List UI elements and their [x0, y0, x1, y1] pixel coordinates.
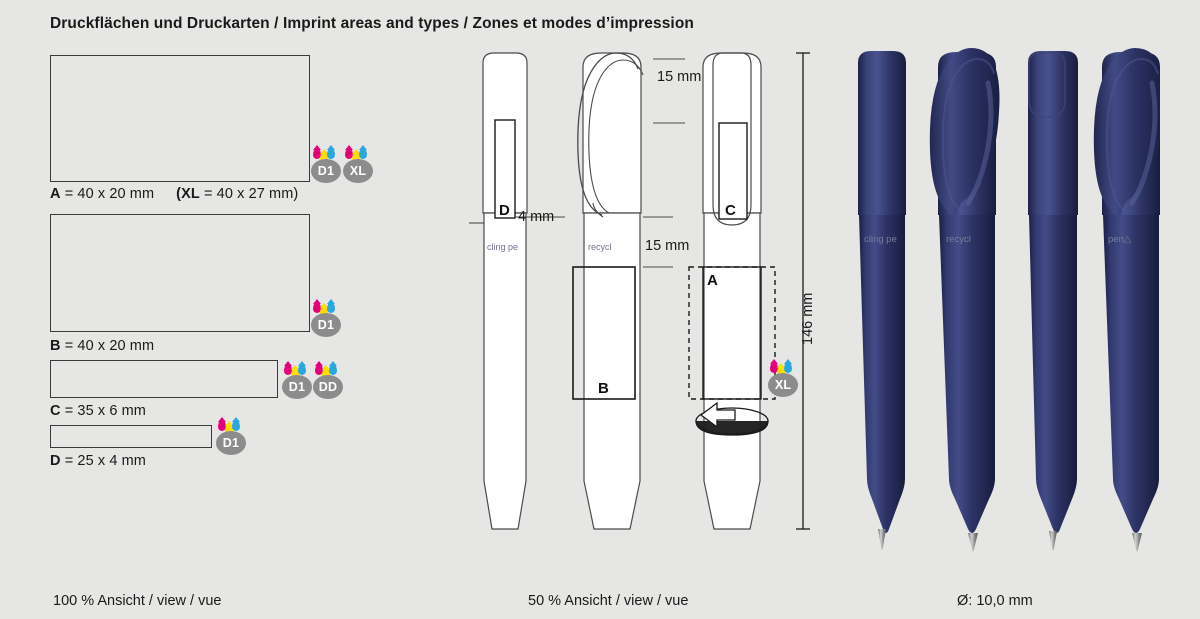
imprint-size-d: = 25 x 4 mm [61, 453, 146, 469]
dimension-total-length [796, 53, 810, 529]
area-marker-b: B [598, 380, 609, 397]
ink-drop-cyan-icon [784, 362, 792, 373]
badge-d1-area-b: D1 [311, 300, 341, 338]
imprint-xl-prefix-a: (XL [176, 186, 200, 202]
ink-drop-cyan-icon [327, 302, 335, 313]
imprint-letter-c: C [50, 403, 61, 419]
imprint-rect-c [50, 360, 278, 398]
pen-view-2 [578, 53, 643, 529]
badge-d1-area-c: D1 [282, 362, 312, 400]
imprint-label-c: C = 35 x 6 mm [50, 403, 146, 419]
imprint-size-a: = 40 x 20 mm [61, 186, 155, 202]
imprint-size-b: = 40 x 20 mm [61, 338, 155, 354]
badge-xl-area-a: XL [343, 146, 373, 184]
badge-label: DD [313, 375, 343, 399]
imprint-letter-a: A [50, 186, 61, 202]
caption-diameter: Ø: 10,0 mm [957, 593, 1033, 609]
ink-drop-cyan-icon [359, 148, 367, 159]
svg-text:cling pe: cling pe [864, 234, 897, 245]
badge-label: D1 [216, 431, 246, 455]
pen-view-1 [483, 53, 527, 529]
imprint-rect-b [50, 214, 310, 332]
badge-label: XL [343, 159, 373, 183]
product-view-4: pen△ [1094, 48, 1160, 552]
pen-view-3 [703, 53, 761, 529]
technical-drawing: D cling pe B recycl [455, 45, 825, 555]
badge-dd-area-c: DD [313, 362, 343, 400]
dim-label-total-length: 146 mm [800, 293, 816, 345]
svg-text:pen△: pen△ [1108, 234, 1132, 245]
imprint-letter-d: D [50, 453, 61, 469]
imprint-rect-a [50, 55, 310, 182]
dim-label-cap-to-b: 15 mm [645, 238, 689, 254]
imprint-size-c: = 35 x 6 mm [61, 403, 146, 419]
product-renderings: cling pe recycl pen△ [840, 45, 1160, 555]
imprint-xl-size-a: = 40 x 27 mm) [200, 186, 299, 202]
imprint-letter-b: B [50, 338, 61, 354]
badge-d1-area-a: D1 [311, 146, 341, 184]
product-view-3 [1028, 51, 1078, 551]
imprint-label-b: B = 40 x 20 mm [50, 338, 154, 354]
imprint-label-a: A = 40 x 20 mm(XL = 40 x 27 mm) [50, 186, 298, 202]
ink-drop-cyan-icon [327, 148, 335, 159]
imprint-label-d: D = 25 x 4 mm [50, 453, 146, 469]
page-title: Druckflächen und Druckarten / Imprint ar… [50, 15, 694, 33]
spec-sheet: Druckflächen und Druckarten / Imprint ar… [0, 0, 1200, 619]
badge-xl-wraparound: XL [768, 360, 798, 398]
ink-drop-cyan-icon [232, 420, 240, 431]
ink-drop-cyan-icon [329, 364, 337, 375]
imprint-rect-d [50, 425, 212, 448]
ink-drop-cyan-icon [298, 364, 306, 375]
badge-d1-area-d: D1 [216, 418, 246, 456]
product-view-1: cling pe [858, 51, 906, 550]
brand-text-pen2: recycl [588, 242, 612, 252]
caption-scale-left: 100 % Ansicht / view / vue [53, 593, 221, 609]
badge-label: D1 [311, 159, 341, 183]
product-view-2: recycl [930, 48, 1000, 552]
svg-text:recycl: recycl [946, 234, 971, 245]
dim-label-cap-to-c: 15 mm [657, 69, 701, 85]
area-marker-c: C [725, 202, 736, 219]
badge-label: D1 [282, 375, 312, 399]
caption-scale-center: 50 % Ansicht / view / vue [528, 593, 688, 609]
badge-label: D1 [311, 313, 341, 337]
dim-label-clip-width: 4 mm [518, 209, 554, 225]
area-marker-d: D [499, 202, 510, 219]
badge-label: XL [768, 373, 798, 397]
area-marker-a: A [707, 272, 718, 289]
brand-text-pen1: cling pe [487, 242, 518, 252]
